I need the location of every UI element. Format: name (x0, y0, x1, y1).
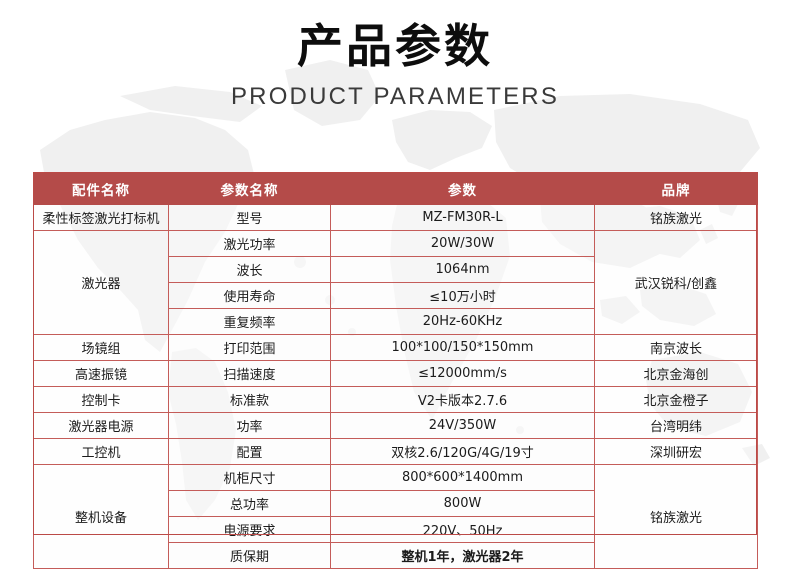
cell-param-value: 1064nm (331, 257, 595, 283)
page-subtitle: PRODUCT PARAMETERS (0, 83, 790, 111)
cell-param-name: 型号 (169, 205, 331, 231)
table-row: 激光器激光功率20W/30W武汉锐科/创鑫 (34, 231, 758, 257)
cell-component-name: 整机设备 (34, 465, 169, 569)
cell-brand: 北京金橙子 (595, 387, 758, 413)
cell-param-value: V2卡版本2.7.6 (331, 387, 595, 413)
table-row: 控制卡标准款V2卡版本2.7.6北京金橙子 (34, 387, 758, 413)
cell-param-value: MZ-FM30R-L (331, 205, 595, 231)
cell-param-name: 波长 (169, 257, 331, 283)
cell-param-value: 800*600*1400mm (331, 465, 595, 491)
page-header: 产品参数 PRODUCT PARAMETERS (0, 0, 790, 111)
cell-brand: 台湾明纬 (595, 413, 758, 439)
cell-param-value: 220V、50Hz (331, 517, 595, 543)
cell-param-name: 配置 (169, 439, 331, 465)
column-header-4: 品牌 (595, 173, 758, 205)
cell-component-name: 高速振镜 (34, 361, 169, 387)
cell-param-value: 20Hz-60KHz (331, 309, 595, 335)
cell-param-name: 机柜尺寸 (169, 465, 331, 491)
column-header-3: 参数 (331, 173, 595, 205)
cell-param-name: 扫描速度 (169, 361, 331, 387)
cell-param-value: 800W (331, 491, 595, 517)
cell-brand: 铭族激光 (595, 465, 758, 569)
cell-component-name: 工控机 (34, 439, 169, 465)
cell-component-name: 激光器电源 (34, 413, 169, 439)
table-head: 配件名称参数名称参数品牌 (34, 173, 758, 205)
cell-brand: 深圳研宏 (595, 439, 758, 465)
cell-param-value: 24V/350W (331, 413, 595, 439)
cell-param-name: 标准款 (169, 387, 331, 413)
cell-param-value: 整机1年，激光器2年 (331, 543, 595, 569)
cell-brand: 北京金海创 (595, 361, 758, 387)
cell-brand: 武汉锐科/创鑫 (595, 231, 758, 335)
column-header-2: 参数名称 (169, 173, 331, 205)
table-header-row: 配件名称参数名称参数品牌 (34, 173, 758, 205)
table-row: 场镜组打印范围100*100/150*150mm南京波长 (34, 335, 758, 361)
cell-component-name: 控制卡 (34, 387, 169, 413)
cell-component-name: 柔性标签激光打标机 (34, 205, 169, 231)
column-header-1: 配件名称 (34, 173, 169, 205)
table-row: 整机设备机柜尺寸800*600*1400mm铭族激光 (34, 465, 758, 491)
cell-param-name: 功率 (169, 413, 331, 439)
cell-param-name: 打印范围 (169, 335, 331, 361)
table-row: 柔性标签激光打标机型号MZ-FM30R-L铭族激光 (34, 205, 758, 231)
page-title: 产品参数 (0, 18, 790, 74)
table-row: 高速振镜扫描速度≤12000mm/s北京金海创 (34, 361, 758, 387)
spec-table-container: 配件名称参数名称参数品牌 柔性标签激光打标机型号MZ-FM30R-L铭族激光激光… (33, 172, 757, 569)
cell-component-name: 场镜组 (34, 335, 169, 361)
table-row: 激光器电源功率24V/350W台湾明纬 (34, 413, 758, 439)
page-root: 产品参数 PRODUCT PARAMETERS 配件名称参数名称参数品牌 柔性标… (0, 0, 790, 558)
cell-param-value: 双核2.6/120G/4G/19寸 (331, 439, 595, 465)
cell-param-name: 使用寿命 (169, 283, 331, 309)
cell-param-name: 电源要求 (169, 517, 331, 543)
cell-component-name: 激光器 (34, 231, 169, 335)
cell-param-name: 总功率 (169, 491, 331, 517)
cell-param-value: 20W/30W (331, 231, 595, 257)
table-row: 工控机配置双核2.6/120G/4G/19寸深圳研宏 (34, 439, 758, 465)
cell-param-name: 激光功率 (169, 231, 331, 257)
spec-table: 配件名称参数名称参数品牌 柔性标签激光打标机型号MZ-FM30R-L铭族激光激光… (33, 172, 758, 569)
cell-param-value: ≤12000mm/s (331, 361, 595, 387)
cell-brand: 铭族激光 (595, 205, 758, 231)
cell-brand: 南京波长 (595, 335, 758, 361)
cell-param-value: 100*100/150*150mm (331, 335, 595, 361)
cell-param-value: ≤10万小时 (331, 283, 595, 309)
cell-param-name: 质保期 (169, 543, 331, 569)
table-body: 柔性标签激光打标机型号MZ-FM30R-L铭族激光激光器激光功率20W/30W武… (34, 205, 758, 569)
cell-param-name: 重复频率 (169, 309, 331, 335)
